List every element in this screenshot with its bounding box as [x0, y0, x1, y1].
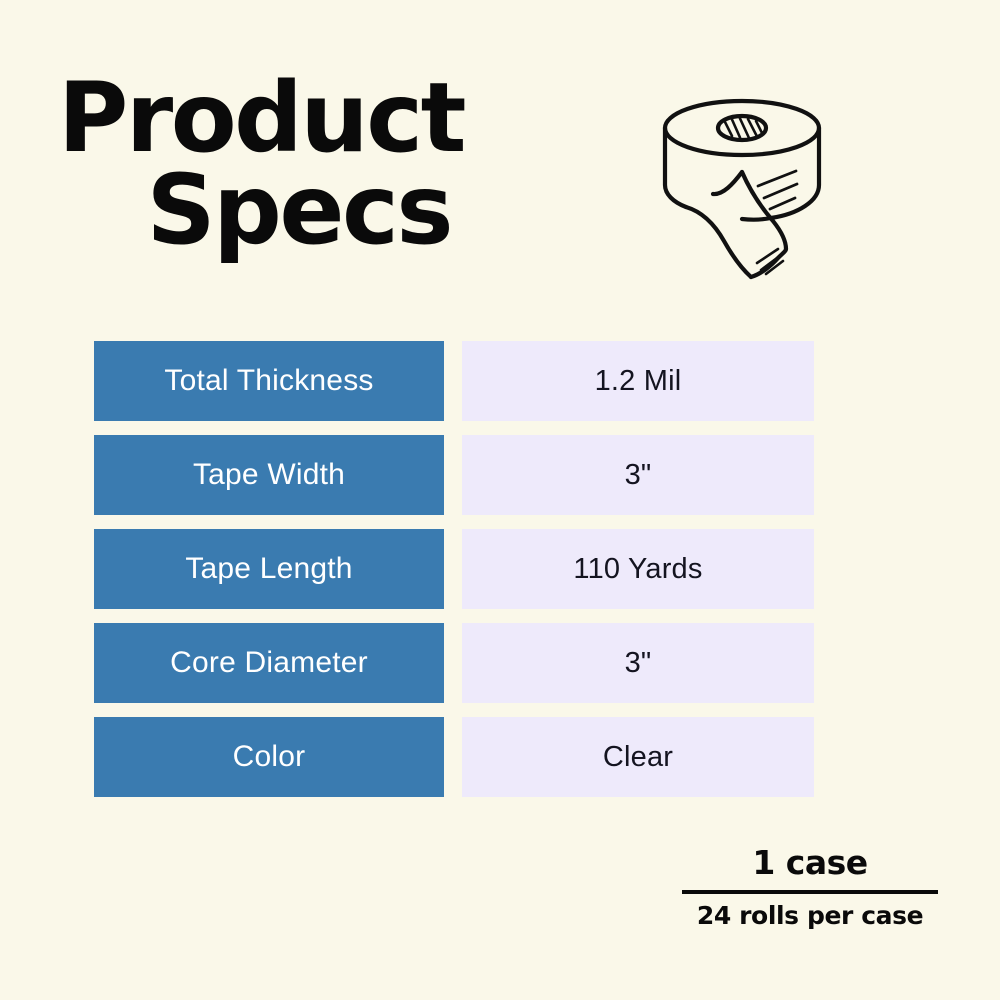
column-gap	[444, 435, 462, 515]
spec-value-color: Clear	[462, 717, 814, 797]
column-gap	[444, 623, 462, 703]
table-row: Core Diameter 3"	[94, 623, 814, 703]
table-row: Tape Length 110 Yards	[94, 529, 814, 609]
case-quantity: 1 case	[682, 845, 938, 881]
spec-label-tape-width: Tape Width	[94, 435, 444, 515]
page-title: Product Specs	[58, 72, 453, 256]
spec-label-color: Color	[94, 717, 444, 797]
spec-value-tape-length: 110 Yards	[462, 529, 814, 609]
case-detail: 24 rolls per case	[682, 902, 938, 930]
product-specs-page: Product Specs	[0, 0, 1000, 1000]
column-gap	[444, 341, 462, 421]
case-quantity-block: 1 case 24 rolls per case	[682, 845, 938, 930]
table-row: Total Thickness 1.2 Mil	[94, 341, 814, 421]
spec-label-tape-length: Tape Length	[94, 529, 444, 609]
table-row: Color Clear	[94, 717, 814, 797]
spec-value-total-thickness: 1.2 Mil	[462, 341, 814, 421]
spec-value-tape-width: 3"	[462, 435, 814, 515]
column-gap	[444, 529, 462, 609]
spec-table: Total Thickness 1.2 Mil Tape Width 3" Ta…	[94, 341, 814, 797]
divider	[682, 890, 938, 894]
spec-label-core-diameter: Core Diameter	[94, 623, 444, 703]
spec-value-core-diameter: 3"	[462, 623, 814, 703]
page-title-line-1: Product	[58, 72, 453, 164]
spec-label-total-thickness: Total Thickness	[94, 341, 444, 421]
page-title-line-2: Specs	[58, 164, 453, 256]
table-row: Tape Width 3"	[94, 435, 814, 515]
tape-roll-icon	[645, 88, 840, 288]
column-gap	[444, 717, 462, 797]
header: Product Specs	[0, 0, 1000, 320]
